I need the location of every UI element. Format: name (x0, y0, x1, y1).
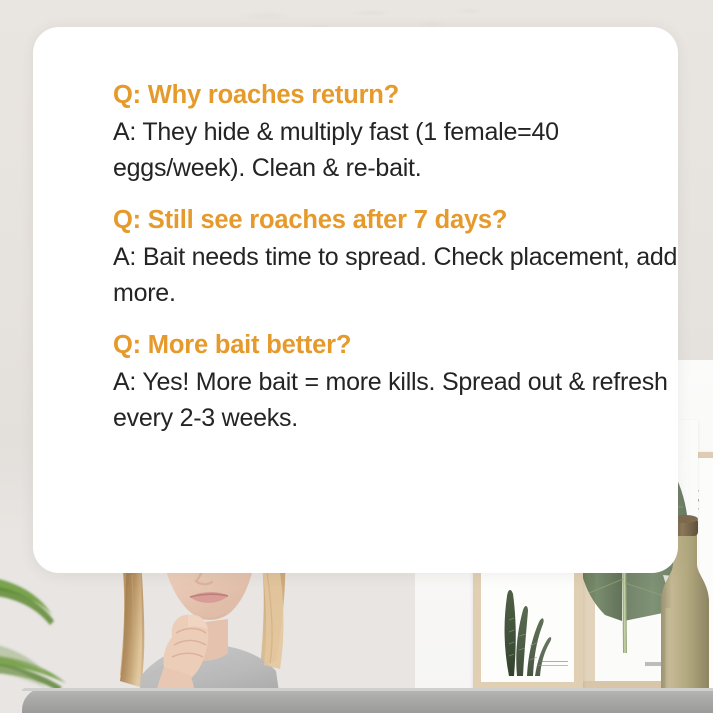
faq-item: Q: Still see roaches after 7 days? A: Ba… (113, 204, 683, 311)
faq-card: Q: Why roaches return? A: They hide & mu… (33, 27, 678, 573)
faq-question: Q: More bait better? (113, 329, 683, 362)
tabletop (22, 688, 713, 713)
faq-item: Q: More bait better? A: Yes! More bait =… (113, 329, 683, 436)
faq-answer: A: They hide & multiply fast (1 female=4… (113, 115, 679, 186)
faq-answer: A: Bait needs time to spread. Check plac… (113, 240, 679, 311)
faq-list: Q: Why roaches return? A: They hide & mu… (113, 79, 683, 436)
snake-plant-caption (538, 661, 568, 668)
faq-item: Q: Why roaches return? A: They hide & mu… (113, 79, 683, 186)
faq-graphic: Q: Why roaches return? A: They hide & mu… (0, 0, 713, 713)
faq-question: Q: Still see roaches after 7 days? (113, 204, 683, 237)
tabletop-edge (22, 688, 713, 691)
faq-question: Q: Why roaches return? (113, 79, 683, 112)
faq-answer: A: Yes! More bait = more kills. Spread o… (113, 365, 679, 436)
